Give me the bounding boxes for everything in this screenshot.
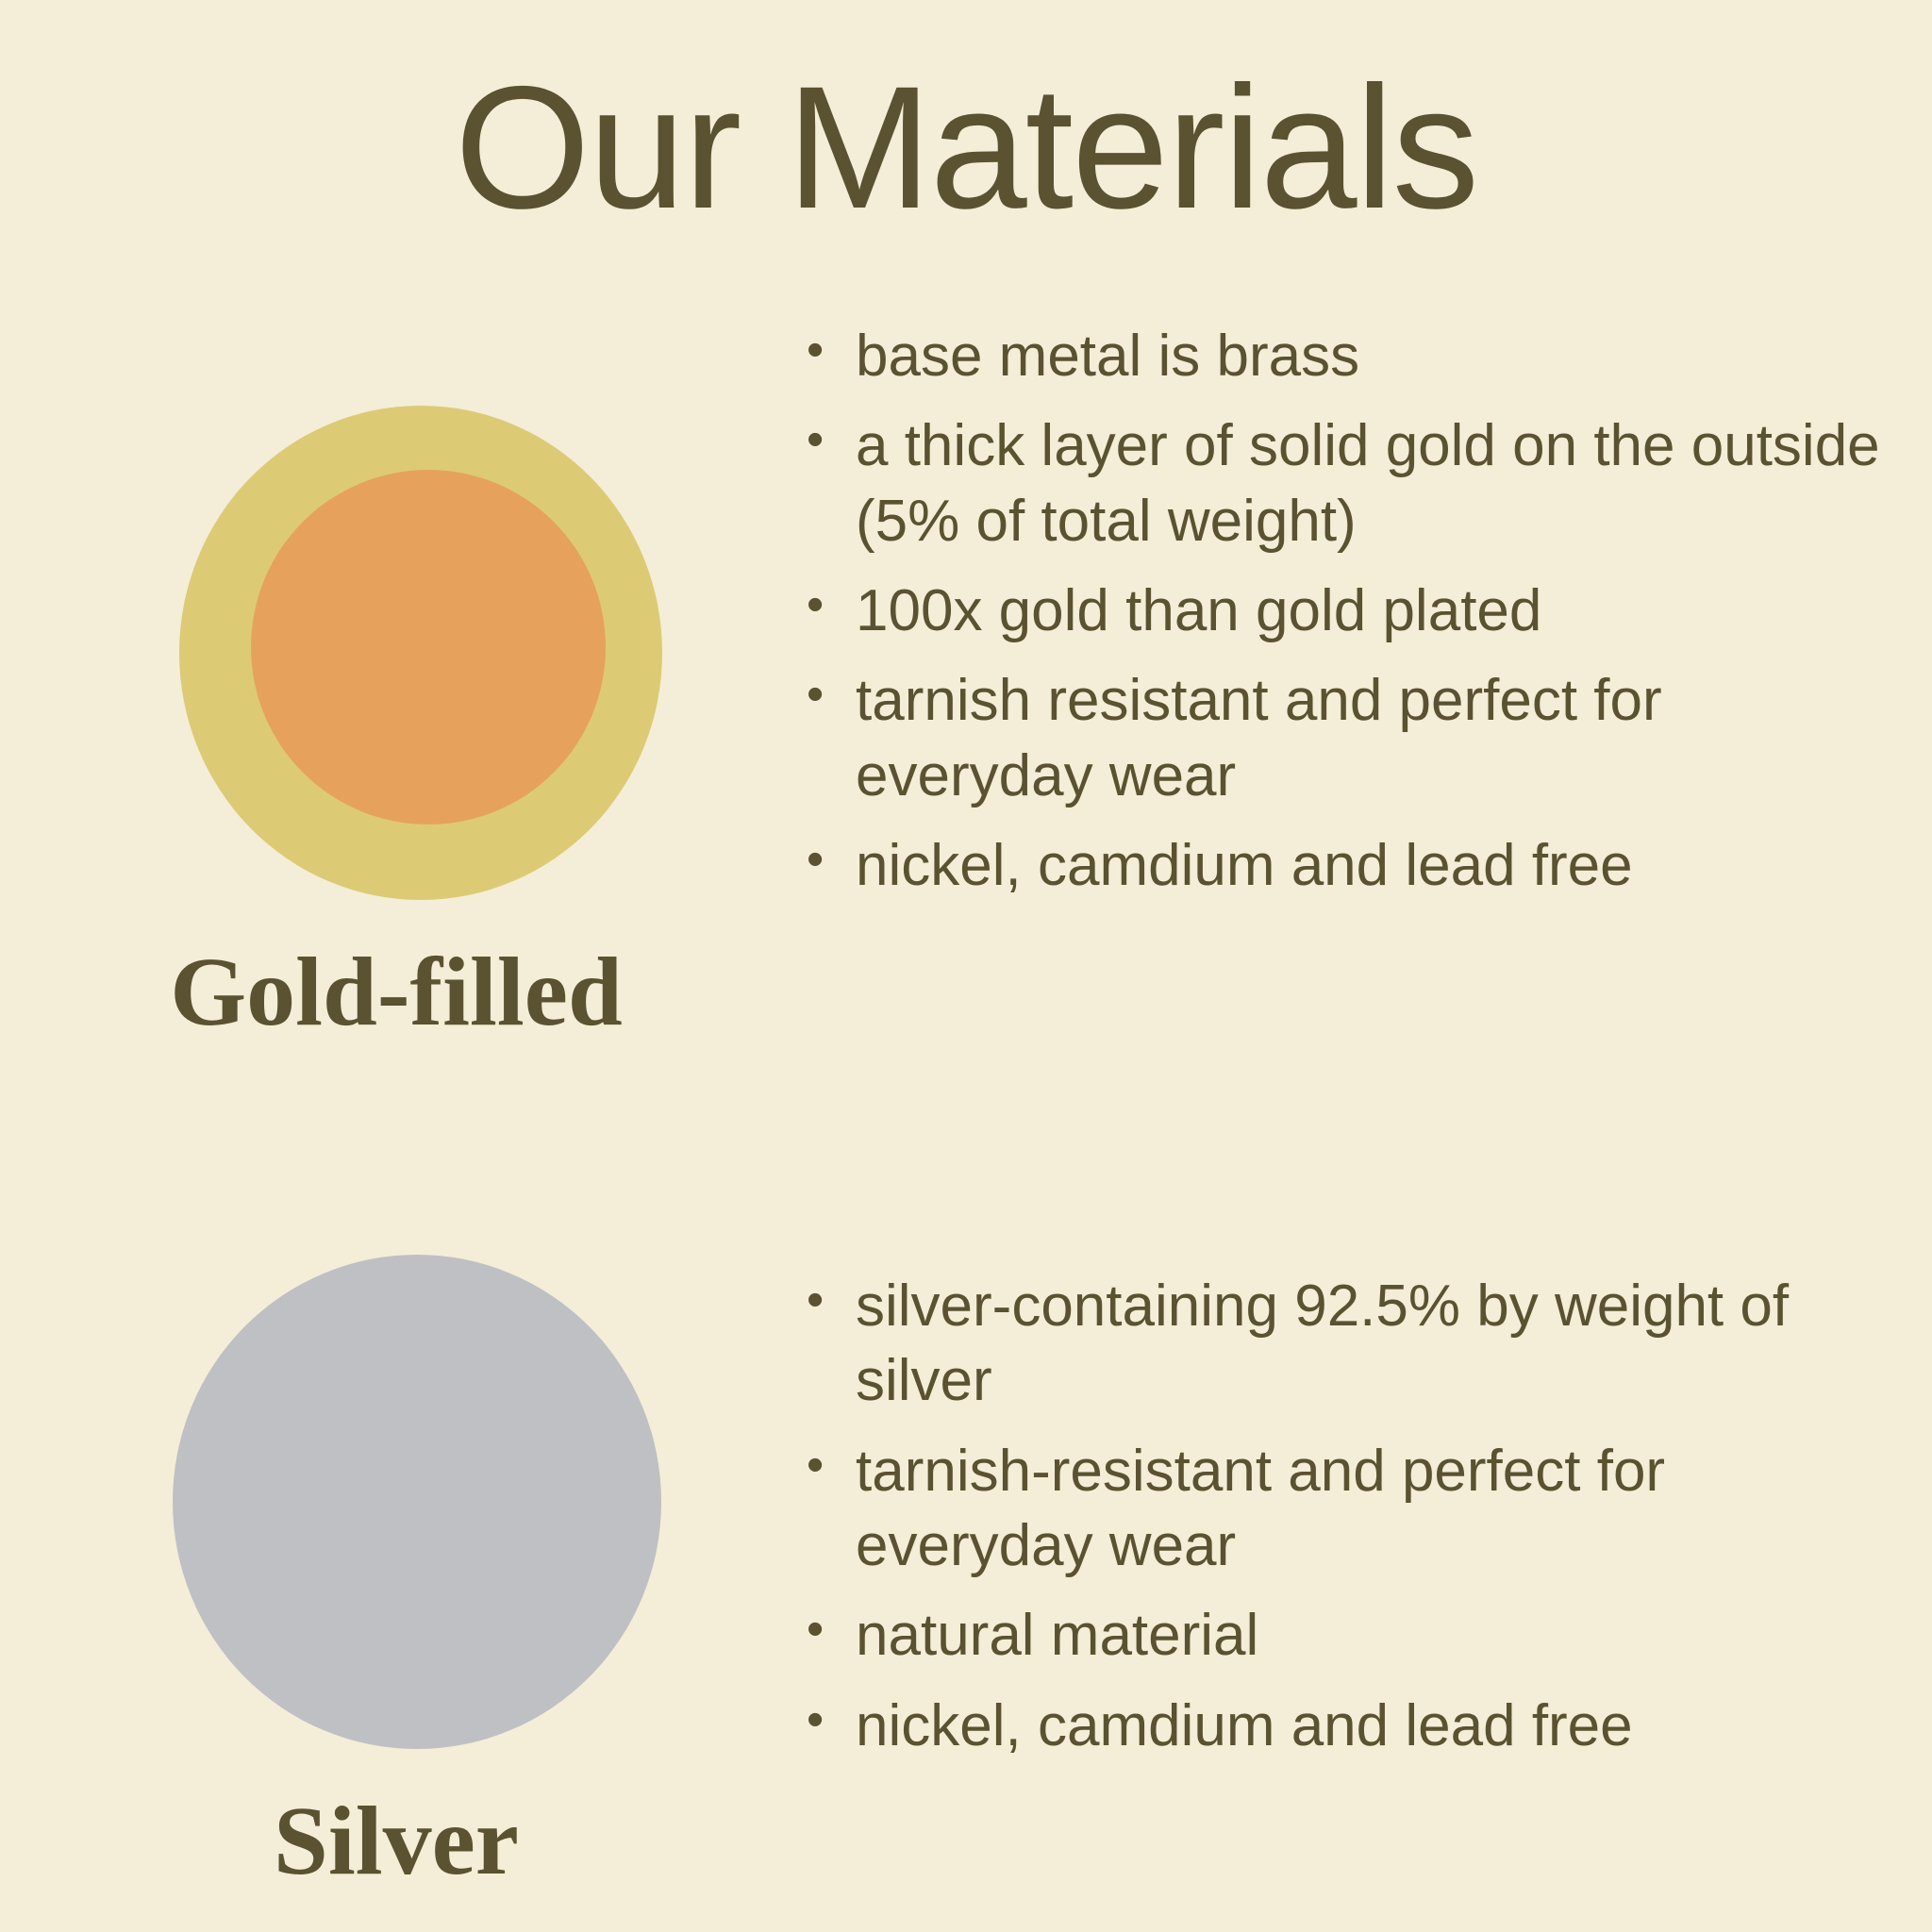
list-item: silver-containing 92.5% by weight of sil… (797, 1269, 1910, 1419)
section-silver: Silver silver-containing 92.5% by weight… (0, 1226, 1932, 1932)
silver-bullet-list: silver-containing 92.5% by weight of sil… (797, 1269, 1910, 1778)
materials-infographic: Our Materials Gold-filled base metal is … (0, 0, 1932, 1932)
section-gold-filled: Gold-filled base metal is brass a thick … (0, 377, 1932, 1113)
list-item: tarnish-resistant and perfect for everyd… (797, 1434, 1910, 1584)
list-item: 100x gold than gold plated (797, 574, 1910, 648)
gold-bullet-list: base metal is brass a thick layer of sol… (797, 319, 1910, 919)
gold-filled-label: Gold-filled (0, 943, 792, 1041)
list-item: a thick layer of solid gold on the outsi… (797, 408, 1910, 558)
silver-label: Silver (0, 1792, 792, 1890)
gold-inner-circle-icon (251, 470, 606, 824)
silver-circle-icon (173, 1255, 661, 1749)
list-item: base metal is brass (797, 319, 1910, 393)
page-title: Our Materials (0, 57, 1932, 240)
list-item: natural material (797, 1598, 1910, 1673)
list-item: tarnish resistant and perfect for everyd… (797, 663, 1910, 813)
list-item: nickel, camdium and lead free (797, 1689, 1910, 1763)
list-item: nickel, camdium and lead free (797, 828, 1910, 903)
